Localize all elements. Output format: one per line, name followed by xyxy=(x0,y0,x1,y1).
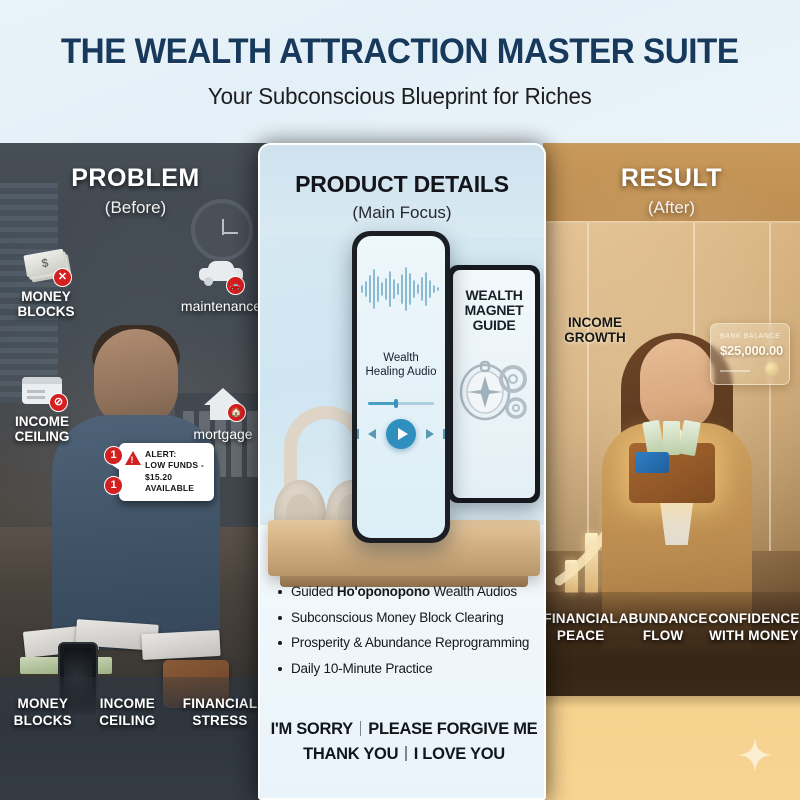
infographic-canvas: THE WEALTH ATTRACTION MASTER SUITE Your … xyxy=(0,0,800,800)
panel-problem-subtitle: (Before) xyxy=(0,198,271,218)
phone-audio-title-line2: Healing Audio xyxy=(366,366,437,378)
bank-balance-card: BANK BALANCE $25,000.00 xyxy=(710,323,790,385)
full-wallet-decor xyxy=(629,443,715,503)
tag-money-blocks-label: MONEY BLOCKS xyxy=(8,289,84,319)
mantra-row-2: THANK YOUI LOVE YOU xyxy=(260,742,546,768)
audio-controls xyxy=(368,419,434,449)
tag-income-growth-label: INCOME GROWTH xyxy=(549,315,641,345)
tag-money-blocks: ✕ MONEY BLOCKS xyxy=(8,248,84,319)
keyword-abundance-flow: ABUNDANCEFLOW xyxy=(619,611,708,645)
phone-screen: Wealth Healing Audio xyxy=(357,236,445,538)
mantra-row-1: I'M SORRYPLEASE FORGIVE ME xyxy=(260,717,546,743)
play-icon[interactable] xyxy=(386,419,416,449)
tag-income-ceiling: ⊘ INCOME CEILING xyxy=(2,373,82,444)
list-item: Guided Ho'oponopono Wealth Audios xyxy=(278,585,540,599)
keyword-income-ceiling: INCOMECEILING xyxy=(99,696,155,730)
bank-balance-label: BANK BALANCE xyxy=(720,333,781,340)
hooponopono-mantra: I'M SORRYPLEASE FORGIVE ME THANK YOUI LO… xyxy=(260,717,546,768)
panel-product-details: PRODUCT DETAILS (Main Focus) WEALTH MAGN… xyxy=(258,143,546,800)
list-item: Daily 10-Minute Practice xyxy=(278,662,540,676)
skip-previous-icon[interactable] xyxy=(368,429,376,439)
tag-income-growth: INCOME GROWTH xyxy=(549,315,641,345)
credit-card-decor xyxy=(635,452,669,473)
audio-waveform-icon xyxy=(359,266,443,312)
x-badge: ✕ xyxy=(53,268,72,287)
tag-mortgage-label: mortgage xyxy=(181,427,265,443)
tag-maintenance-label: maintenance xyxy=(173,299,269,315)
keyword-financial-peace: FINANCIALPEACE xyxy=(543,611,618,645)
skip-next-icon[interactable] xyxy=(426,429,434,439)
tablet-screen: WEALTH MAGNET GUIDE xyxy=(453,270,535,498)
car-icon: 🚗 xyxy=(198,258,244,294)
problem-keywords-strip: MONEYBLOCKS INCOMECEILING FINANCIALSTRES… xyxy=(0,677,271,800)
list-item: Prosperity & Abundance Reprogramming xyxy=(278,636,540,650)
panel-result: RESULT (After) INCOME GROWTH BANK BALANC… xyxy=(543,143,800,800)
notification-badge: 1 xyxy=(104,476,123,495)
tag-maintenance: 🚗 maintenance xyxy=(173,258,269,315)
tablet-device[interactable]: WEALTH MAGNET GUIDE xyxy=(448,265,540,503)
alert-line-1: ALERT: xyxy=(145,449,206,460)
phone-device[interactable]: Wealth Healing Audio xyxy=(352,231,450,543)
panel-product-title: PRODUCT DETAILS xyxy=(260,171,544,198)
keyword-financial-stress: FINANCIALSTRESS xyxy=(183,696,258,730)
result-keywords-strip: FINANCIALPEACE ABUNDANCEFLOW CONFIDENCEW… xyxy=(543,592,800,696)
tag-mortgage: 🏠 mortgage xyxy=(181,386,265,443)
panel-product-subtitle: (Main Focus) xyxy=(260,203,544,223)
cash-note-decor xyxy=(20,657,60,674)
tag-income-ceiling-label: INCOME CEILING xyxy=(2,414,82,444)
panel-result-title: RESULT xyxy=(543,164,800,193)
compass-and-gears-icon xyxy=(457,346,531,426)
cash-with-x-icon: ✕ xyxy=(23,248,69,284)
audio-progress-slider[interactable] xyxy=(368,402,434,405)
keyword-money-blocks: MONEYBLOCKS xyxy=(14,696,72,730)
house-icon: 🏠 xyxy=(200,386,246,422)
credit-card-blocked-icon: ⊘ xyxy=(19,373,65,409)
alert-line-2: LOW FUNDS - xyxy=(145,460,206,471)
header-banner: THE WEALTH ATTRACTION MASTER SUITE Your … xyxy=(0,0,800,143)
no-entry-badge: ⊘ xyxy=(49,393,68,412)
alert-line-3: $15.20 AVAILABLE xyxy=(145,472,206,495)
page-subtitle: Your Subconscious Blueprint for Riches xyxy=(208,83,592,110)
house-alert-badge: 🏠 xyxy=(227,403,246,422)
panel-problem-header: PROBLEM (Before) xyxy=(0,143,271,218)
panel-result-subtitle: (After) xyxy=(543,198,800,218)
list-item: Subconscious Money Block Clearing xyxy=(278,611,540,625)
panel-result-header: RESULT (After) xyxy=(543,143,800,218)
keyword-confidence-with-money: CONFIDENCEWITH MONEY xyxy=(708,611,799,645)
page-title: THE WEALTH ATTRACTION MASTER SUITE xyxy=(61,34,739,69)
panel-product-header: PRODUCT DETAILS (Main Focus) xyxy=(260,145,544,223)
product-stage: WEALTH MAGNET GUIDE xyxy=(260,237,546,562)
phone-audio-title-line1: Wealth xyxy=(383,352,419,364)
notification-badge: 1 xyxy=(104,446,123,465)
car-alert-badge: 🚗 xyxy=(226,276,245,295)
panel-problem: PROBLEM (Before) ✕ MONEY BLOCKS 🚗 xyxy=(0,143,271,800)
card-chip-decor xyxy=(765,362,779,376)
bank-balance-amount: $25,000.00 xyxy=(720,343,781,358)
card-line-decor xyxy=(720,370,750,372)
panel-problem-title: PROBLEM xyxy=(0,164,271,193)
panels-row: PROBLEM (Before) ✕ MONEY BLOCKS 🚗 xyxy=(0,143,800,800)
warning-triangle-icon xyxy=(125,451,141,465)
tablet-title: WEALTH MAGNET GUIDE xyxy=(465,288,524,332)
sparkle-icon xyxy=(738,738,772,772)
feature-bullet-list: Guided Ho'oponopono Wealth Audios Subcon… xyxy=(278,585,540,687)
low-funds-alert: ALERT: LOW FUNDS - $15.20 AVAILABLE xyxy=(119,443,214,501)
